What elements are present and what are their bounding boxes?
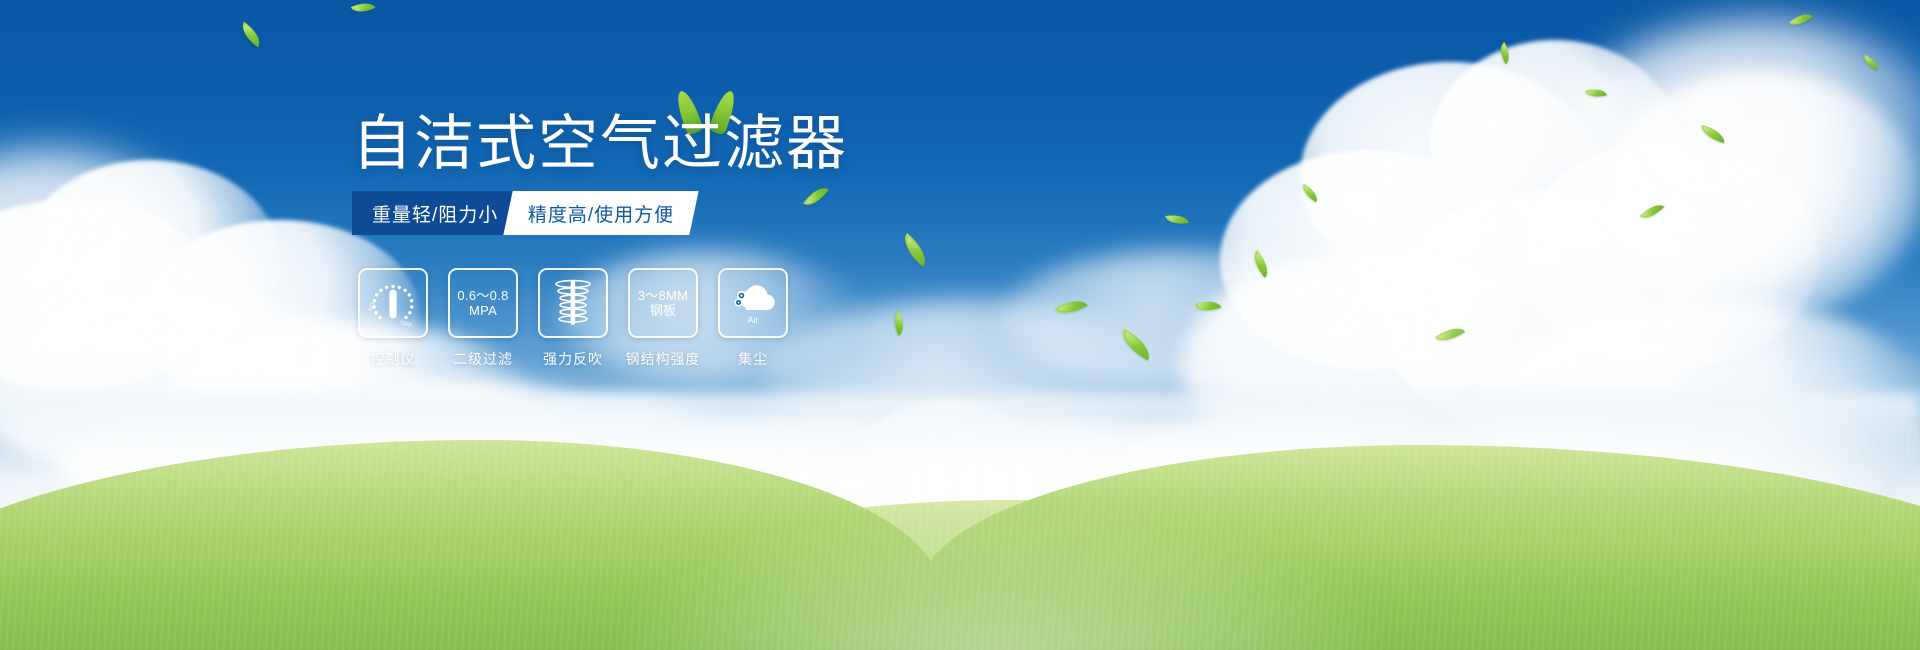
feature-item-blowback[interactable]: 强力反吹: [538, 268, 608, 369]
pressure-line-1: 0.6～0.8: [457, 288, 508, 303]
dial-off-label: OFF: [399, 320, 413, 330]
coil-spring-icon: [548, 277, 598, 329]
page-title: 自洁式空气过滤器: [352, 114, 848, 174]
feature-item-controller[interactable]: NO OFF 控制仪: [358, 268, 428, 369]
banner-content: 自洁式空气过滤器 重量轻/阻力小 精度高/使用方便: [0, 0, 1920, 650]
gauge-switch-icon: NO OFF: [366, 276, 420, 330]
feature-caption: 二级过滤: [453, 349, 513, 369]
feature-caption: 强力反吹: [543, 349, 603, 369]
feature-card: 3～8MM 钢板: [628, 268, 698, 338]
hero-banner: 自洁式空气过滤器 重量轻/阻力小 精度高/使用方便: [0, 0, 1920, 650]
steel-line-1: 3～8MM: [638, 288, 689, 303]
feature-caption: 集尘: [738, 349, 768, 369]
steel-line-2: 钢板: [638, 303, 689, 318]
feature-caption: 控制仪: [371, 349, 416, 369]
pressure-line-2: MPA: [457, 303, 508, 318]
dial-on-label: NO: [368, 302, 377, 313]
tag-precision-convenience: 精度高/使用方便: [504, 191, 700, 235]
feature-card: [538, 268, 608, 338]
tag-bar: 重量轻/阻力小 精度高/使用方便: [352, 191, 695, 235]
air-label: Air: [748, 315, 759, 325]
feature-caption: 钢结构强度: [626, 349, 701, 369]
feature-item-steel[interactable]: 3～8MM 钢板 钢结构强度: [628, 268, 698, 369]
feature-card: NO OFF: [358, 268, 428, 338]
cloud-air-icon: Air: [726, 278, 780, 328]
tag-weight-resistance: 重量轻/阻力小: [352, 191, 518, 235]
feature-card: Air: [718, 268, 788, 338]
feature-item-dust[interactable]: Air 集尘: [718, 268, 788, 369]
feature-card: 0.6～0.8 MPA: [448, 268, 518, 338]
feature-item-pressure[interactable]: 0.6～0.8 MPA 二级过滤: [448, 268, 518, 369]
tag-precision-convenience-label: 精度高/使用方便: [528, 200, 674, 227]
pressure-text-icon: 0.6～0.8 MPA: [455, 288, 510, 319]
feature-list: NO OFF 控制仪 0.6～0.8 MPA 二级过滤: [358, 268, 788, 369]
steel-plate-text-icon: 3～8MM 钢板: [636, 288, 691, 319]
